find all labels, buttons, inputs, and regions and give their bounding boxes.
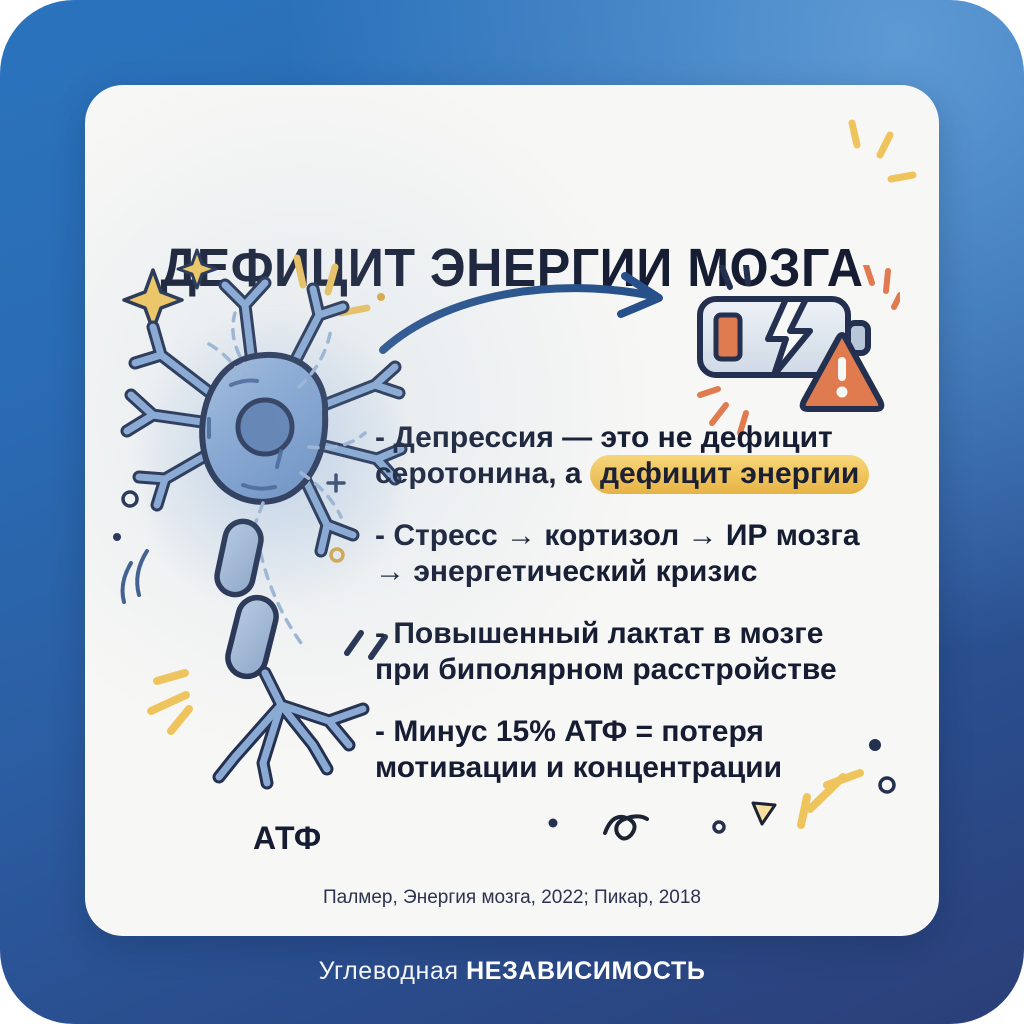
battery-spark-dashes-right [866, 265, 900, 307]
exclamation-dot [837, 387, 848, 398]
bullet-item-1: - Депрессия — это не дефицит серотонина,… [375, 420, 905, 492]
bullet-text-4: Минус 15% АТФ = потеря мотивации и конце… [375, 715, 782, 784]
sparkle-dash-group-top-right [852, 123, 913, 179]
bullet-highlight-1: дефицит энергии [590, 455, 869, 494]
brand-footer: Углеводная НЕЗАВИСИМОСТЬ [0, 957, 1024, 986]
brand-bold-text: НЕЗАВИСИМОСТЬ [466, 957, 705, 985]
citation-text: Палмер, Энергия мозга, 2022; Пикар, 2018 [85, 887, 939, 909]
bullet-item-4: - Минус 15% АТФ = потеря мотивации и кон… [375, 714, 905, 786]
bullet-list: - Депрессия — это не дефицит серотонина,… [375, 420, 905, 812]
atp-label: АТФ [253, 820, 322, 857]
myelin-segment-2 [224, 594, 280, 681]
blue-background-panel: ДЕФИЦИТ ЭНЕРГИИ МОЗГА [0, 0, 1024, 1024]
infographic-canvas: ДЕФИЦИТ ЭНЕРГИИ МОЗГА [0, 0, 1024, 1024]
bullet-marker-4: - [375, 715, 385, 748]
exclamation-bar [838, 357, 846, 381]
bullet-marker-1: - [375, 421, 385, 454]
bullet-item-2: - Стресс → кортизол → ИР мозга → энергет… [375, 518, 905, 590]
dot-bottom-center [549, 819, 558, 828]
brand-light-text: Углеводная [319, 957, 459, 985]
bullet-item-3: - Повышенный лактат в мозге при биполярн… [375, 616, 905, 688]
content-card: ДЕФИЦИТ ЭНЕРГИИ МОЗГА [85, 85, 939, 936]
myelin-segment-1 [214, 518, 265, 598]
bullet-marker-3: - [375, 617, 385, 650]
squiggle-loop-doodle [605, 816, 647, 838]
low-battery-warning-icon [690, 265, 900, 445]
curved-arrow [375, 270, 685, 360]
bullet-text-2: Стресс → кортизол → ИР мозга → энергетич… [375, 519, 860, 588]
ring-bottom-center [714, 822, 724, 832]
bullet-text-3: Повышенный лактат в мозге при биполярном… [375, 617, 837, 686]
bullet-marker-2: - [375, 519, 385, 552]
battery-charge-bar [716, 315, 740, 359]
neuron-nucleus [238, 400, 292, 454]
battery-spark-dashes-left [722, 265, 748, 287]
